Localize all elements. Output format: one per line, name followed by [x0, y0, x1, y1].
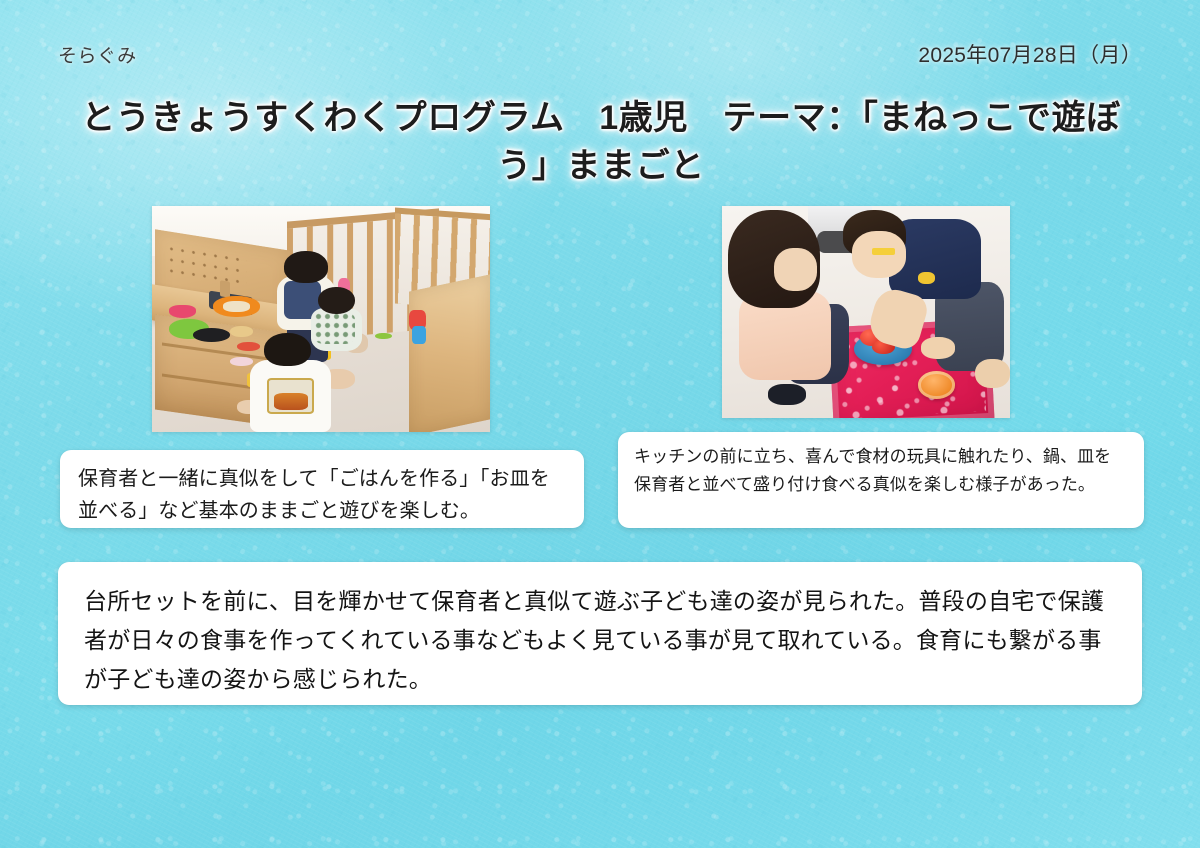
caption-card-right: キッチンの前に立ち、喜んで食材の玩具に触れたり、鍋、皿を保育者と並べて盛り付け食…: [618, 432, 1144, 528]
date-label: 2025年07月28日（月）: [918, 39, 1142, 69]
toy-blue-item: [412, 326, 426, 344]
toy-plate-red: [237, 342, 261, 351]
toy-pink-pot: [169, 305, 196, 317]
toy-black-pan: [193, 328, 230, 342]
child-girl-shoe: [768, 384, 805, 405]
child-a-head: [284, 251, 328, 283]
newsletter-page: そらぐみ 2025年07月28日（月） とうきょうすくわくプログラム 1歳児 テ…: [0, 0, 1200, 848]
child-c-shirt-print: [267, 378, 314, 414]
child-boy-hair-clip: [872, 248, 895, 254]
photo-right: [722, 206, 1010, 418]
child-c-head: [264, 333, 311, 367]
child-boy-face: [852, 231, 907, 278]
class-name-label: そらぐみ: [58, 41, 137, 68]
caption-left-text: 保育者と一緒に真似をして「ごはんを作る」「お皿を並べる」など基本のままごと遊びを…: [78, 463, 566, 528]
summary-text: 台所セットを前に、目を輝かせて保育者と真似て遊ぶ子ども達の姿が見られた。普段の自…: [84, 582, 1116, 699]
caption-card-left: 保育者と一緒に真似をして「ごはんを作る」「お皿を並べる」など基本のままごと遊びを…: [60, 450, 584, 528]
child-b-head: [318, 287, 355, 314]
toy-food-cream: [223, 301, 250, 312]
child-b-shirt-pattern: [314, 312, 355, 344]
child-boy-foot: [921, 337, 956, 358]
header: そらぐみ 2025年07月28日（月）: [58, 38, 1142, 70]
child-boy-shirt-logo: [918, 272, 935, 285]
toy-orange-bowl: [918, 371, 955, 399]
caption-right-text: キッチンの前に立ち、喜んで食材の玩具に触れたり、鍋、皿を保育者と並べて盛り付け食…: [634, 443, 1128, 498]
page-title: とうきょうすくわくプログラム 1歳児 テーマ：「まねっこで遊ぼう」ままごと: [56, 94, 1146, 191]
photo-left-content: [152, 206, 490, 432]
summary-card: 台所セットを前に、目を輝かせて保育者と真似て遊ぶ子ども達の姿が見られた。普段の自…: [58, 562, 1142, 705]
photo-right-content: [722, 206, 1010, 418]
toy-plate-beige: [230, 326, 254, 337]
play-faucet: [220, 280, 230, 297]
child-girl-face: [774, 248, 817, 290]
wooden-side-board: [409, 274, 490, 432]
child-boy-foot-back: [975, 359, 1010, 389]
photo-left: [152, 206, 490, 432]
